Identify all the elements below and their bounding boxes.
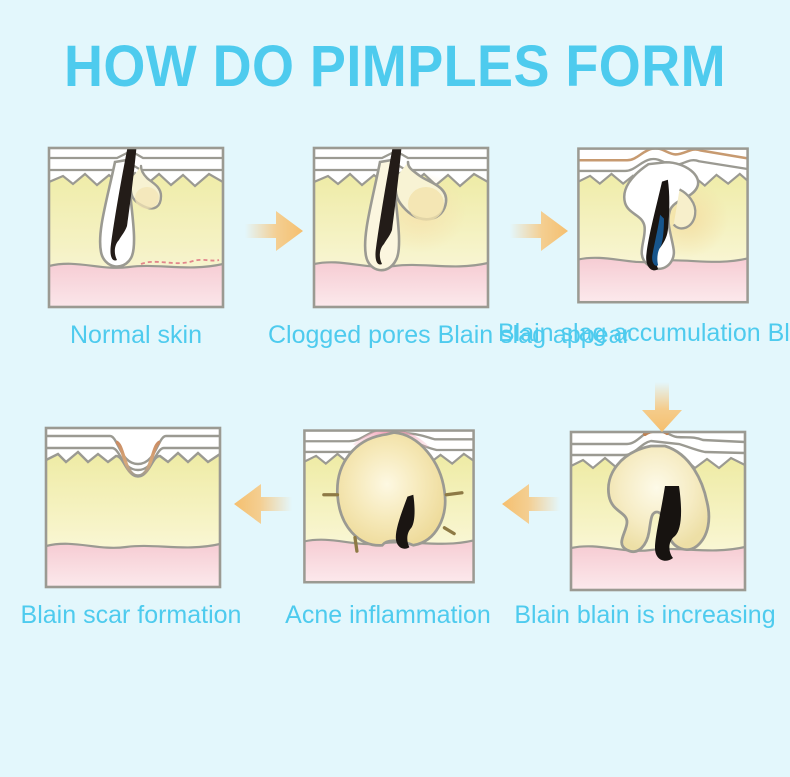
caption-line: Blain blain is formed [768,319,790,347]
caption-line: Acne inflammation [285,601,491,629]
caption-slag-accumulation: Blain slag accumulation Blain blain is f… [498,316,790,350]
caption-line: Blain scar formation [21,601,242,629]
step-scar-formation[interactable] [40,420,226,595]
arrow-left-icon [500,478,562,530]
caption-line: Normal skin [70,321,202,349]
acne-inflammation-cross-section-icon [296,415,482,590]
arrow-right-icon [508,205,570,257]
step-slag-accumulation[interactable] [570,135,756,310]
caption-clogged-pores: Clogged pores Blain slag appear [268,318,530,352]
caption-blain-increasing: Blain blain is increasing [500,598,790,632]
step-normal-skin[interactable] [43,140,229,315]
caption-line: Blain slag accumulation [498,319,761,347]
infographic-root: HOW DO PIMPLES FORM [0,0,790,777]
clogged-pore-cross-section-icon [308,140,494,315]
process-row-bottom [0,420,790,670]
caption-line: Blain blain is increasing [514,601,775,629]
slag-accumulation-cross-section-icon [570,135,756,310]
scar-cross-section-icon [40,420,226,595]
page-title: HOW DO PIMPLES FORM [28,36,763,98]
arrow-right-icon [243,205,305,257]
process-row-top [0,140,790,390]
caption-normal-skin: Normal skin [0,318,272,352]
blain-increasing-cross-section-icon [565,420,751,595]
step-blain-increasing[interactable] [565,420,751,595]
normal-skin-cross-section-icon [43,140,229,315]
arrow-down-icon [636,380,688,434]
step-clogged-pores[interactable] [308,140,494,315]
step-acne-inflammation[interactable] [296,415,482,590]
caption-acne-inflammation: Acne inflammation [258,598,518,632]
arrow-left-icon [232,478,294,530]
caption-line: Clogged pores [268,321,431,349]
caption-scar-formation: Blain scar formation [0,598,262,632]
